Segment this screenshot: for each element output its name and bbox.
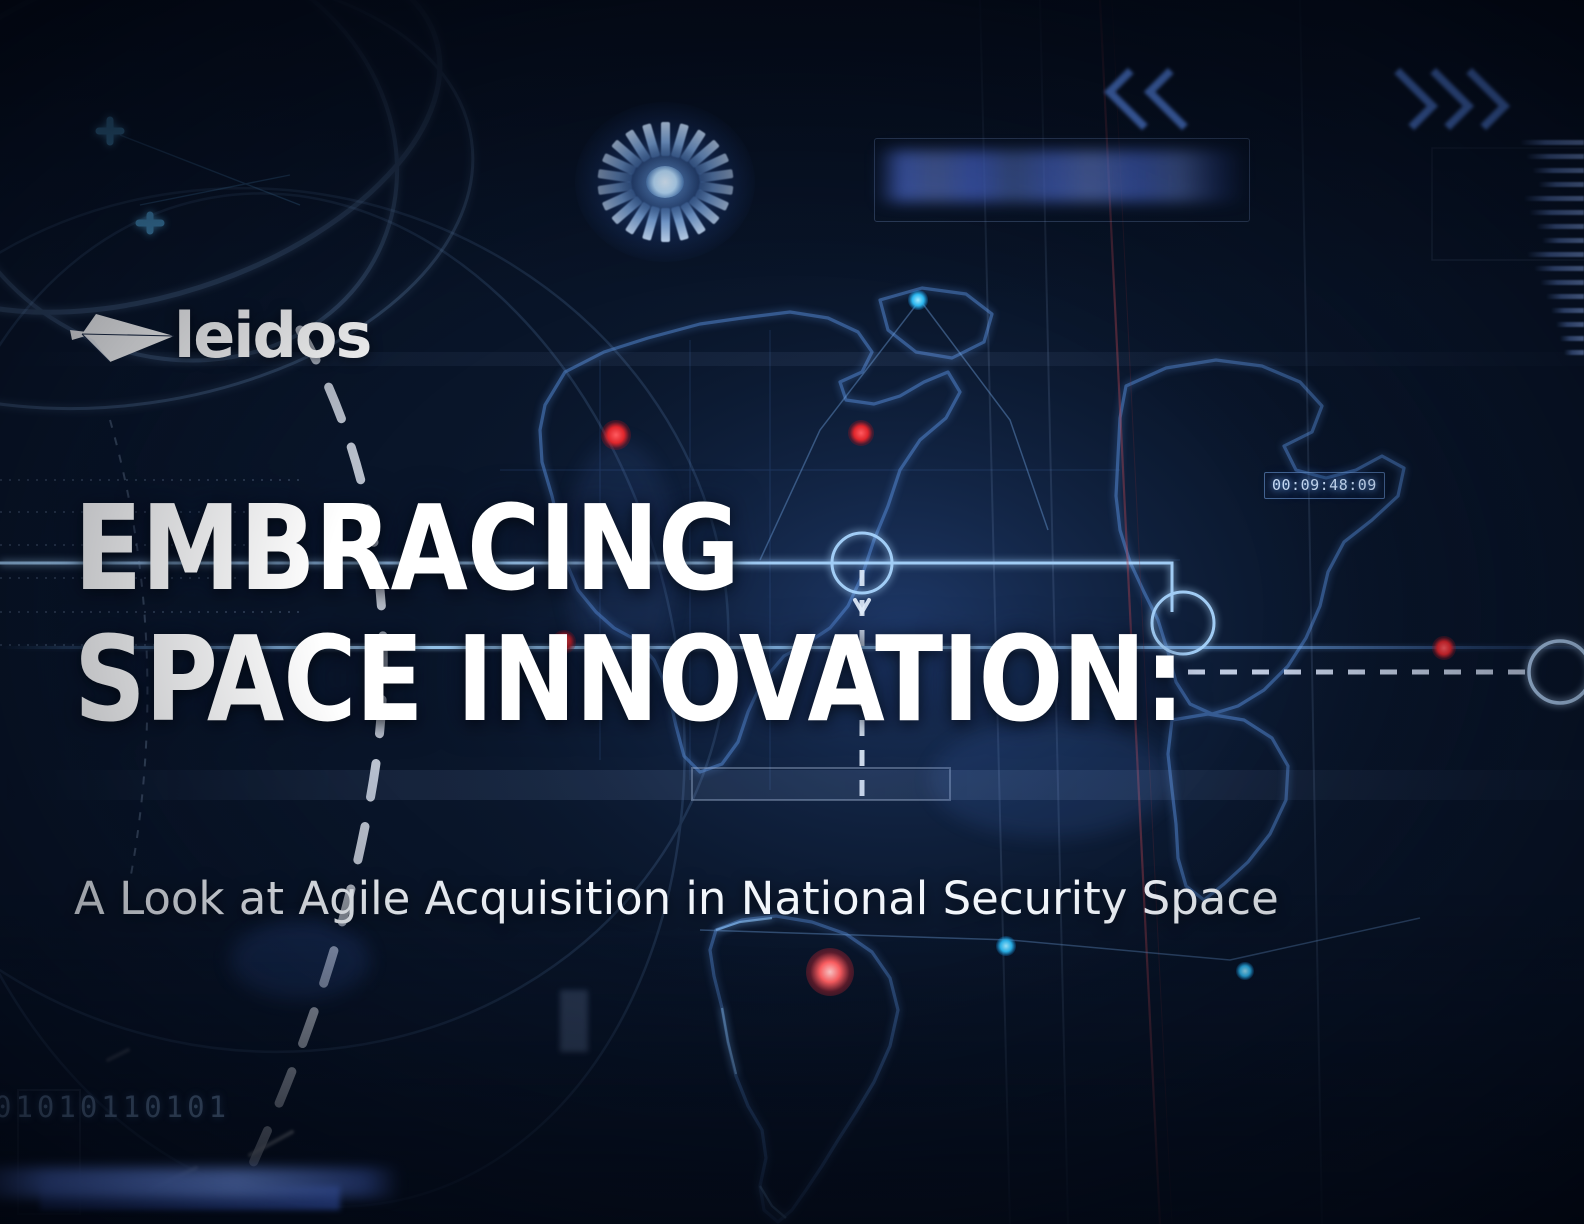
data-bar-frame [874,138,1250,222]
bottom-bar-core [40,1186,340,1210]
data-line [1560,336,1584,341]
page-subtitle: A Look at Agile Acquisition in National … [74,872,1279,925]
leidos-logo: leidos [70,300,370,372]
cover-slide: 00:09:48:09 01010110101 leidos EMBRACING… [0,0,1584,1224]
data-line [1524,196,1584,201]
data-line [1542,238,1584,243]
data-line [1536,224,1584,229]
paper-plane-icon [70,300,180,372]
data-line [1546,294,1584,299]
page-title: EMBRACING SPACE INNOVATION: [74,492,1287,737]
data-line [1551,308,1584,313]
top-shade [0,0,1584,300]
data-line [1532,168,1584,173]
binary-stream-text: 01010110101 [0,1090,230,1124]
data-line [1540,280,1584,285]
bottom-shade [0,894,1584,1224]
data-line [1534,266,1584,271]
leidos-wordmark: leidos [174,305,370,367]
right-edge-data-lines [1514,140,1584,364]
data-line [1527,252,1584,257]
title-line-1: EMBRACING [74,492,1287,605]
data-line [1556,322,1584,327]
data-line [1538,182,1584,187]
title-line-2: SPACE INNOVATION: [74,623,1287,736]
data-line [1529,210,1584,215]
data-line [1520,140,1584,145]
data-line [1564,350,1584,355]
data-line [1526,154,1584,159]
